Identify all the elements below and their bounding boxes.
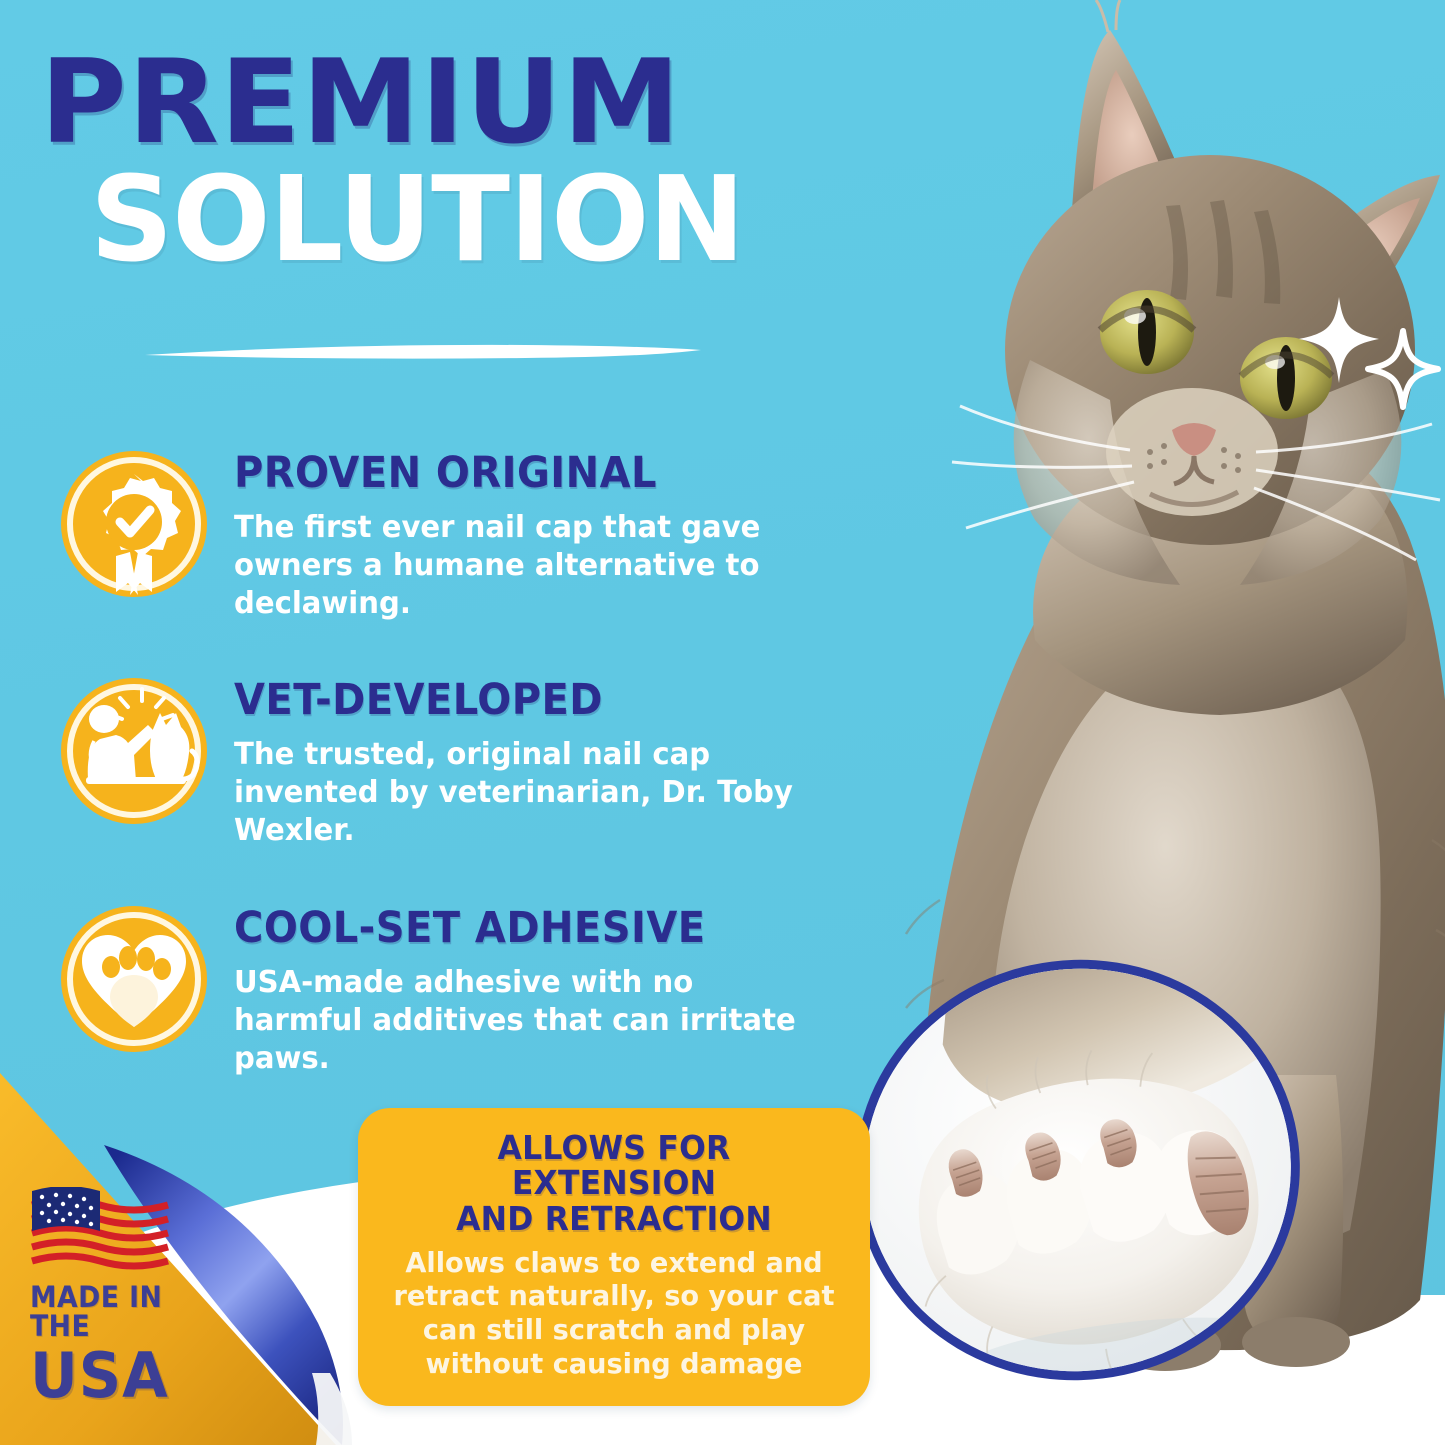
award-ribbon-check-icon [58, 448, 210, 600]
feature-item: PROVEN ORIGINAL The first ever nail cap … [58, 448, 848, 623]
headline-solution: SOLUTION [90, 160, 815, 278]
feature-description: USA-made adhesive with no harmful additi… [234, 964, 816, 1078]
callout-title: ALLOWS FOR EXTENSION AND RETRACTION [394, 1130, 835, 1236]
feature-title: COOL-SET ADHESIVE [234, 907, 805, 950]
headline-premium: PREMIUM [40, 48, 846, 158]
cat-paw-with-nail-caps-photo [855, 960, 1300, 1380]
page-title: PREMIUM SOLUTION [40, 48, 830, 278]
extension-retraction-callout: ALLOWS FOR EXTENSION AND RETRACTION Allo… [358, 1108, 870, 1406]
callout-title-line2: AND RETRACTION [456, 1199, 772, 1238]
sparkle-outline-icon [1368, 331, 1438, 407]
feature-title: VET-DEVELOPED [234, 679, 805, 722]
made-in-usa-line2: USA [30, 1345, 230, 1407]
feature-item: VET-DEVELOPED The trusted, original nail… [58, 675, 848, 850]
feature-item: COOL-SET ADHESIVE USA-made adhesive with… [58, 903, 848, 1078]
heart-paw-icon [58, 903, 210, 1055]
feature-description: The trusted, original nail cap invented … [234, 736, 830, 850]
vet-highfive-cat-icon [58, 675, 210, 827]
callout-title-line1: ALLOWS FOR EXTENSION [498, 1128, 731, 1202]
feature-description: The first ever nail cap that gave owners… [234, 509, 816, 623]
usa-flag-icon [30, 1187, 170, 1271]
feature-list: PROVEN ORIGINAL The first ever nail cap … [58, 448, 848, 1130]
callout-body: Allows claws to extend and retract natur… [389, 1246, 839, 1380]
headline-divider [145, 342, 705, 362]
feature-title: PROVEN ORIGINAL [234, 452, 805, 495]
made-in-usa-badge: MADE IN THE USA [30, 1187, 240, 1407]
made-in-usa-line1: MADE IN THE [30, 1283, 223, 1341]
product-feature-poster: PREMIUM SOLUTION PROVEN ORIGINAL [0, 0, 1445, 1445]
sparkle-cluster [1295, 295, 1445, 415]
